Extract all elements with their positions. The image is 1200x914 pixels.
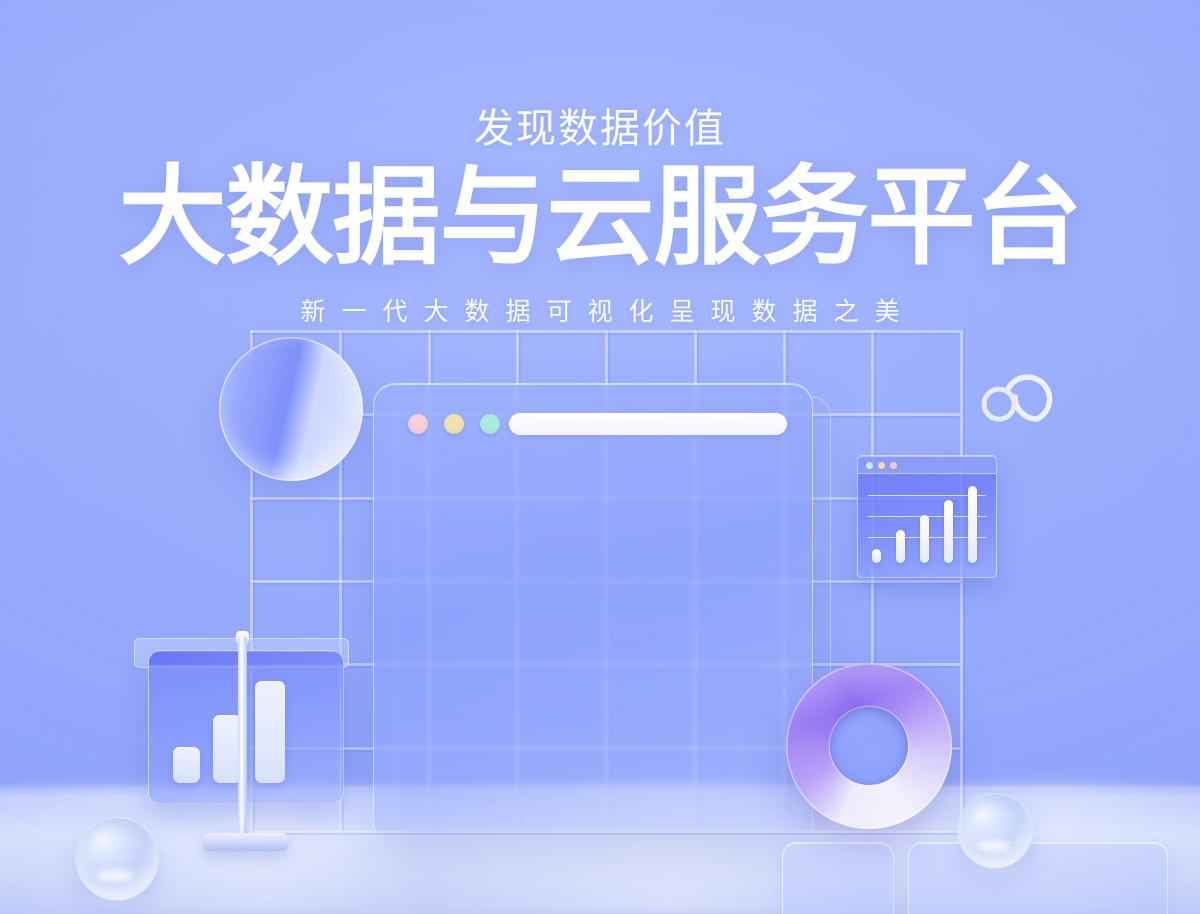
mini-chart-window [857,455,997,578]
mini-bar-1 [872,549,881,563]
mini-bar-4 [944,500,953,563]
glass-disc [219,337,363,481]
glass-sphere-right [958,794,1032,868]
sidebar-panel [782,842,894,914]
mini-bar-2 [896,530,905,563]
address-bar[interactable] [509,413,787,435]
mini-bar-5 [968,486,977,563]
bar-3 [255,681,285,783]
stand-base [203,833,289,851]
minimize-dot[interactable] [444,414,464,434]
grid-line-vertical [960,330,963,830]
mini-minimize-dot[interactable] [878,462,885,469]
subtitle-text: 新一代大数据可视化呈现数据之美 [0,292,1200,328]
stand-pole [238,636,247,848]
browser-window-mock [373,383,813,831]
glass-sphere-left [76,818,158,900]
close-dot[interactable] [408,414,428,434]
eyebrow-text: 发现数据价值 [0,96,1200,154]
bar-1 [173,747,200,783]
page-title: 大数据与云服务平台 [0,160,1200,273]
content-panel [908,842,1168,914]
mini-bar-3 [920,515,929,563]
donut-chart [786,663,952,829]
cloud-outline-icon [975,363,1065,435]
bar-2 [213,715,241,783]
mini-close-dot[interactable] [866,462,873,469]
hero-banner: 发现数据价值 大数据与云服务平台 新一代大数据可视化呈现数据之美 [0,0,1200,914]
grid-line-horizontal [250,330,960,333]
maximize-dot[interactable] [480,414,500,434]
mini-maximize-dot[interactable] [890,462,897,469]
